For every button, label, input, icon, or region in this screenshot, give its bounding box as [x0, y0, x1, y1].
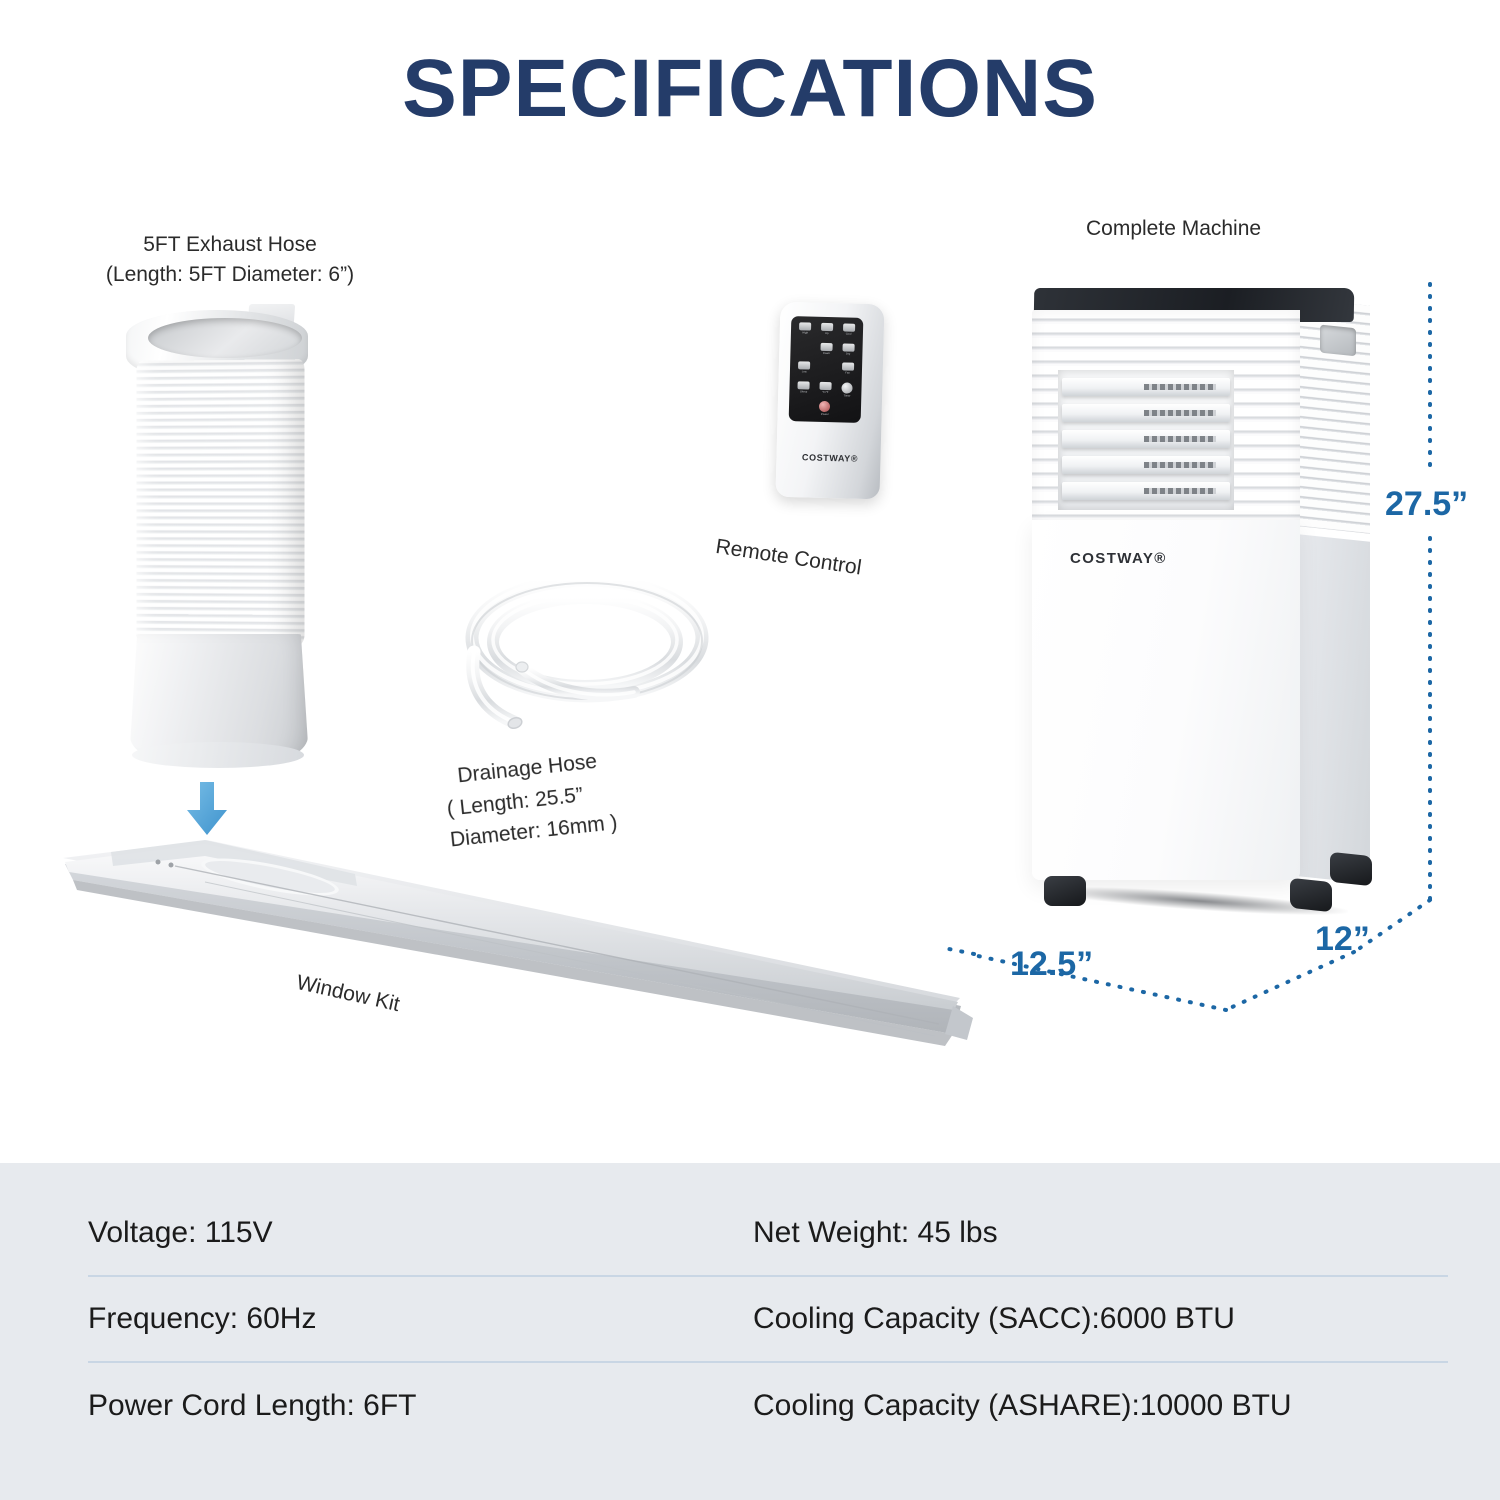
spec-row-voltage: Voltage: 115V: [88, 1191, 743, 1277]
power-icon: [819, 401, 830, 412]
drainage-hose-label: Drainage Hose ( Length: 25.5” Diameter: …: [442, 744, 619, 856]
spec-row-net-weight: Net Weight: 45 lbs: [743, 1191, 1448, 1277]
spec-row-frequency: Frequency: 60Hz: [88, 1277, 743, 1363]
moon-icon: [798, 381, 810, 389]
complete-machine-label: Complete Machine: [1086, 214, 1261, 244]
exhaust-hose-label: 5FT Exhaust Hose (Length: 5FT Diameter: …: [60, 230, 400, 291]
exhaust-hose-label-line2: (Length: 5FT Diameter: 6”): [60, 260, 400, 290]
fan-icon: [842, 362, 854, 370]
unit-icon: [819, 381, 831, 389]
exhaust-hose-label-line1: 5FT Exhaust Hose: [60, 230, 400, 260]
bar-icon: [799, 322, 811, 330]
hose-collar-opening: [148, 318, 302, 358]
remote-control-label: Remote Control: [714, 532, 864, 584]
remote-button-unit[interactable]: ℃/℉: [816, 381, 835, 399]
dimension-width-label: 12.5”: [1010, 945, 1093, 984]
spec-row-cooling-ashare: Cooling Capacity (ASHARE):10000 BTU: [743, 1363, 1448, 1449]
remote-button-low[interactable]: Low: [795, 361, 814, 379]
remote-button-dry[interactable]: Dry: [839, 343, 858, 361]
dimension-height-label: 27.5”: [1385, 485, 1468, 524]
snowflake-icon: [843, 323, 855, 331]
specifications-panel: Voltage: 115V Net Weight: 45 lbs Frequen…: [0, 1163, 1500, 1500]
remote-button-power[interactable]: Power: [815, 401, 834, 416]
remote-button-timer[interactable]: Timer: [838, 382, 857, 400]
exhaust-hose-image: [118, 308, 318, 788]
remote-button-spacer: [794, 400, 813, 415]
remote-button-blank-2: [816, 362, 835, 380]
remote-button-high[interactable]: High: [796, 322, 815, 340]
remote-button-up[interactable]: Up: [817, 323, 836, 341]
remote-control-image: High Up Cool Down Dry Low Fan Sleep ℃/℉ …: [778, 303, 882, 498]
bar-icon: [798, 361, 810, 369]
clock-icon: [842, 382, 853, 393]
spec-row-cooling-sacc: Cooling Capacity (SACC):6000 BTU: [743, 1277, 1448, 1363]
hose-adapter-lip: [132, 742, 304, 768]
dimension-annotations: 27.5” 12.5” 12”: [930, 270, 1500, 1030]
remote-button-cool[interactable]: Cool: [839, 323, 858, 341]
droplet-icon: [842, 343, 854, 351]
page-title: SPECIFICATIONS: [0, 42, 1500, 136]
window-kit-image: [55, 830, 975, 1070]
remote-button-sleep[interactable]: Sleep: [794, 381, 813, 399]
specifications-table: Voltage: 115V Net Weight: 45 lbs Frequen…: [88, 1191, 1448, 1449]
arrow-down-icon: [820, 342, 832, 350]
remote-button-grid: High Up Cool Down Dry Low Fan Sleep ℃/℉ …: [794, 322, 858, 417]
remote-button-down[interactable]: Down: [817, 342, 836, 360]
spec-row-power-cord: Power Cord Length: 6FT: [88, 1363, 743, 1449]
arrow-up-icon: [821, 323, 833, 331]
hose-corrugated-body: [137, 359, 305, 645]
remote-button-pad: High Up Cool Down Dry Low Fan Sleep ℃/℉ …: [789, 316, 864, 423]
dimension-depth-label: 12”: [1315, 920, 1370, 959]
remote-button-blank: [795, 342, 814, 360]
remote-button-fan[interactable]: Fan: [838, 362, 857, 380]
specifications-page: SPECIFICATIONS 5FT Exhaust Hose (Length:…: [0, 0, 1500, 1500]
drainage-hose-image: [452, 560, 722, 750]
